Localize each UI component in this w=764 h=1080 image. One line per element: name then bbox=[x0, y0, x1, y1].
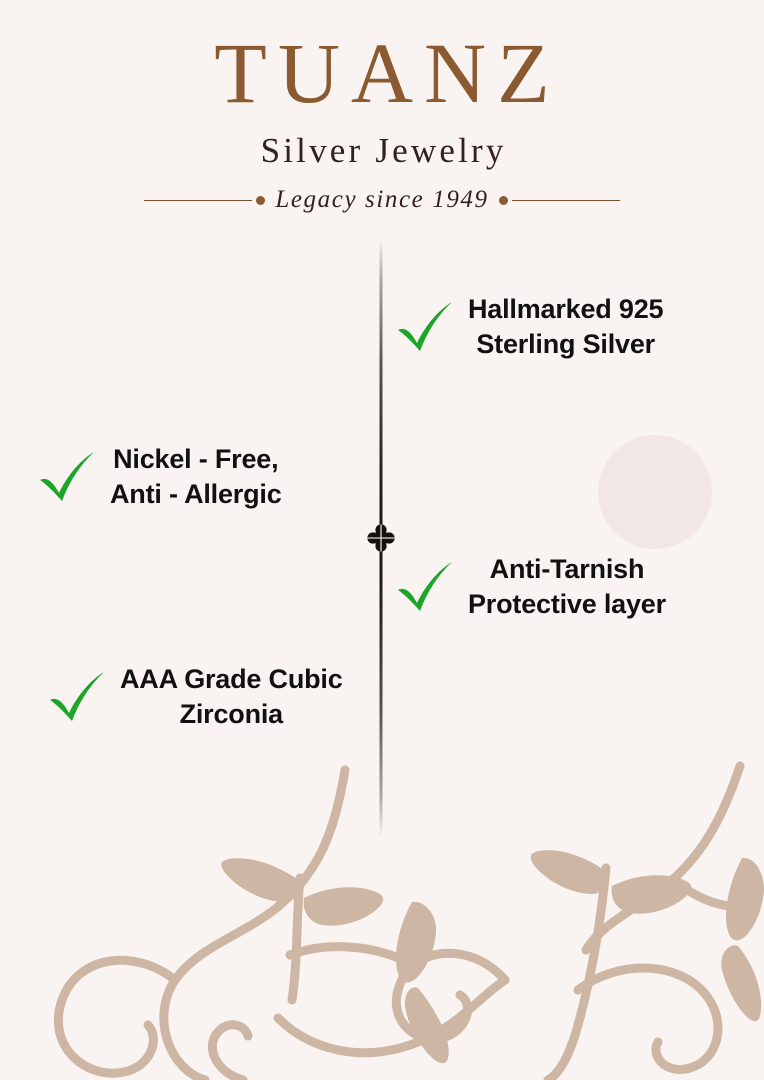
divider-line-top bbox=[380, 238, 383, 538]
vertical-divider bbox=[378, 238, 384, 838]
rule-dot-left bbox=[256, 196, 265, 205]
feature-label: AAA Grade Cubic Zirconia bbox=[120, 662, 343, 732]
brand-subtitle: Silver Jewelry bbox=[0, 132, 764, 171]
green-check-icon bbox=[38, 451, 96, 503]
rule-dot-right bbox=[499, 196, 508, 205]
feature-label: Hallmarked 925 Sterling Silver bbox=[468, 292, 663, 362]
quatrefoil-ornament bbox=[364, 521, 398, 555]
poster-canvas: TUANZ Silver Jewelry Legacy since 1949 bbox=[0, 0, 764, 1080]
tagline-text: Legacy since 1949 bbox=[269, 186, 494, 214]
green-check-icon bbox=[396, 301, 454, 353]
brand-header: TUANZ Silver Jewelry Legacy since 1949 bbox=[0, 30, 764, 214]
brand-name: TUANZ bbox=[0, 30, 764, 118]
feature-item-aaa-grade-cubic-zirconia: AAA Grade Cubic Zirconia bbox=[48, 662, 343, 732]
feature-label: Nickel - Free, Anti - Allergic bbox=[110, 442, 282, 512]
feature-item-anti-tarnish-protective-layer: Anti-Tarnish Protective layer bbox=[396, 552, 666, 622]
feature-label: Anti-Tarnish Protective layer bbox=[468, 552, 666, 622]
rule-line-left bbox=[144, 200, 252, 201]
rule-line-right bbox=[512, 200, 620, 201]
green-check-icon bbox=[48, 671, 106, 723]
feature-item-nickel-free-anti-allergic: Nickel - Free, Anti - Allergic bbox=[38, 442, 282, 512]
feature-item-hallmarked-925-sterling-silver: Hallmarked 925 Sterling Silver bbox=[396, 292, 663, 362]
blush-circle bbox=[598, 435, 712, 549]
tagline-rule: Legacy since 1949 bbox=[0, 186, 764, 214]
green-check-icon bbox=[396, 561, 454, 613]
floral-vine-flourish bbox=[0, 750, 764, 1080]
